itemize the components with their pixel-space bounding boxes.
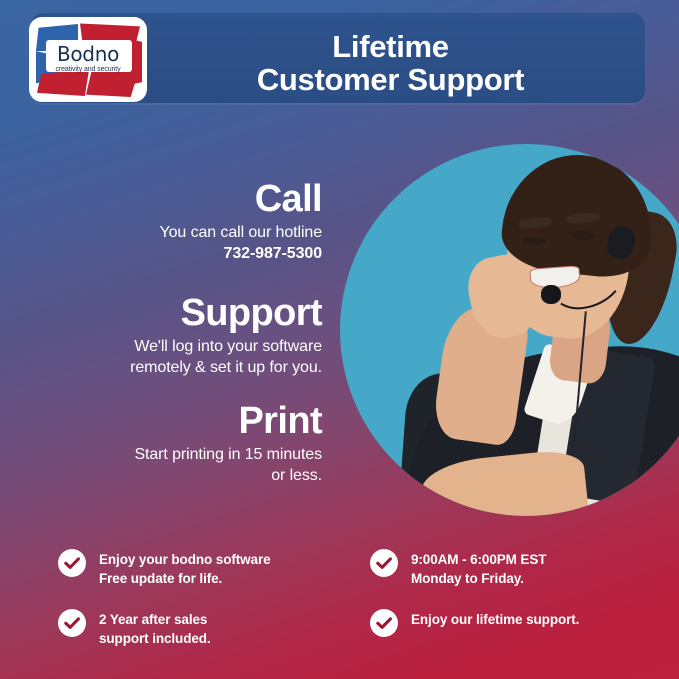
hero-circle	[340, 144, 679, 516]
list-item: 9:00AM - 6:00PM EST Monday to Friday.	[370, 548, 658, 588]
check-circle-icon	[58, 609, 86, 637]
page-title-line2: Customer Support	[136, 63, 645, 96]
feature-call-title: Call	[0, 178, 322, 221]
support-poster: Lifetime Customer Support Bodno creativi…	[0, 0, 679, 679]
logo-wordmark: Bodno	[34, 44, 142, 65]
feature-print-title: Print	[0, 400, 322, 443]
list-item-text: 2 Year after sales support included.	[99, 608, 211, 648]
feature-call-line1: You can call our hotline	[0, 222, 322, 243]
feature-support-line2: remotely & set it up for you.	[0, 357, 322, 378]
page-title-line1: Lifetime	[332, 29, 448, 64]
list-item-text: Enjoy our lifetime support.	[411, 608, 579, 629]
list-item: Enjoy our lifetime support.	[370, 608, 658, 637]
list-item-line1: Enjoy your bodno software	[99, 552, 271, 567]
feature-print-line1: Start printing in 15 minutes	[0, 444, 322, 465]
headset-microphone	[541, 285, 561, 304]
feature-list: Call You can call our hotline 732-987-53…	[0, 178, 322, 512]
list-item: 2 Year after sales support included.	[58, 608, 346, 648]
support-agent-photo	[340, 144, 679, 516]
feature-support-line1: We'll log into your software	[0, 336, 322, 357]
photo-eye	[571, 231, 595, 239]
checklist-column-left: Enjoy your bodno software Free update fo…	[58, 548, 346, 648]
feature-print: Print Start printing in 15 minutes or le…	[0, 400, 322, 486]
list-item-line1: 9:00AM - 6:00PM EST	[411, 552, 546, 567]
list-item-line2: Monday to Friday.	[411, 569, 546, 588]
logo-artwork: Bodno creativity and security	[34, 22, 142, 97]
list-item-line2: support included.	[99, 629, 211, 648]
feature-support-title: Support	[0, 292, 322, 335]
list-item-text: Enjoy your bodno software Free update fo…	[99, 548, 271, 588]
bodno-logo[interactable]: Bodno creativity and security	[29, 17, 147, 102]
list-item-line2: Free update for life.	[99, 569, 271, 588]
feature-call: Call You can call our hotline 732-987-53…	[0, 178, 322, 264]
check-circle-icon	[370, 609, 398, 637]
list-item-line1: 2 Year after sales	[99, 612, 207, 627]
check-circle-icon	[370, 549, 398, 577]
check-circle-icon	[58, 549, 86, 577]
benefits-checklist: Enjoy your bodno software Free update fo…	[58, 548, 658, 648]
feature-print-line2: or less.	[0, 465, 322, 486]
list-item-text: 9:00AM - 6:00PM EST Monday to Friday.	[411, 548, 546, 588]
checklist-column-right: 9:00AM - 6:00PM EST Monday to Friday. En…	[370, 548, 658, 648]
list-item: Enjoy your bodno software Free update fo…	[58, 548, 346, 588]
list-item-line1: Enjoy our lifetime support.	[411, 612, 579, 627]
phone-number[interactable]: 732-987-5300	[0, 243, 322, 264]
logo-tagline: creativity and security	[34, 66, 142, 74]
feature-support: Support We'll log into your software rem…	[0, 292, 322, 378]
